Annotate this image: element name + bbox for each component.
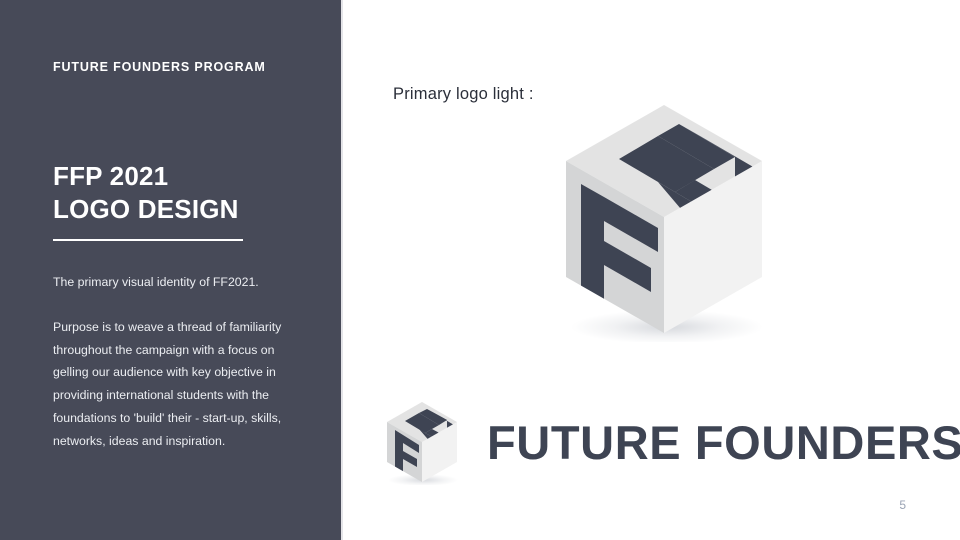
program-eyebrow-label: FUTURE FOUNDERS PROGRAM <box>53 60 266 75</box>
title-divider-rule <box>53 239 243 241</box>
primary-logo-cube-icon <box>559 96 769 342</box>
wordmark-text: FUTURE FOUNDERS <box>487 419 960 466</box>
page-title-line-2: LOGO DESIGN <box>53 193 313 226</box>
logo-mark-cube-icon <box>383 399 461 485</box>
slide: FUTURE FOUNDERS PROGRAM FFP 2021 LOGO DE… <box>0 0 960 540</box>
logo-lockup: FUTURE FOUNDERS <box>383 396 928 488</box>
page-title: FFP 2021 LOGO DESIGN <box>53 160 313 227</box>
content-panel: Primary logo light : <box>343 0 960 540</box>
sidebar-panel: FUTURE FOUNDERS PROGRAM FFP 2021 LOGO DE… <box>0 0 341 540</box>
page-number: 5 <box>899 498 906 512</box>
page-title-line-1: FFP 2021 <box>53 160 313 193</box>
body-paragraph: Purpose is to weave a thread of familiar… <box>53 316 301 452</box>
section-label: Primary logo light : <box>393 85 534 104</box>
lead-paragraph: The primary visual identity of FF2021. <box>53 273 308 292</box>
